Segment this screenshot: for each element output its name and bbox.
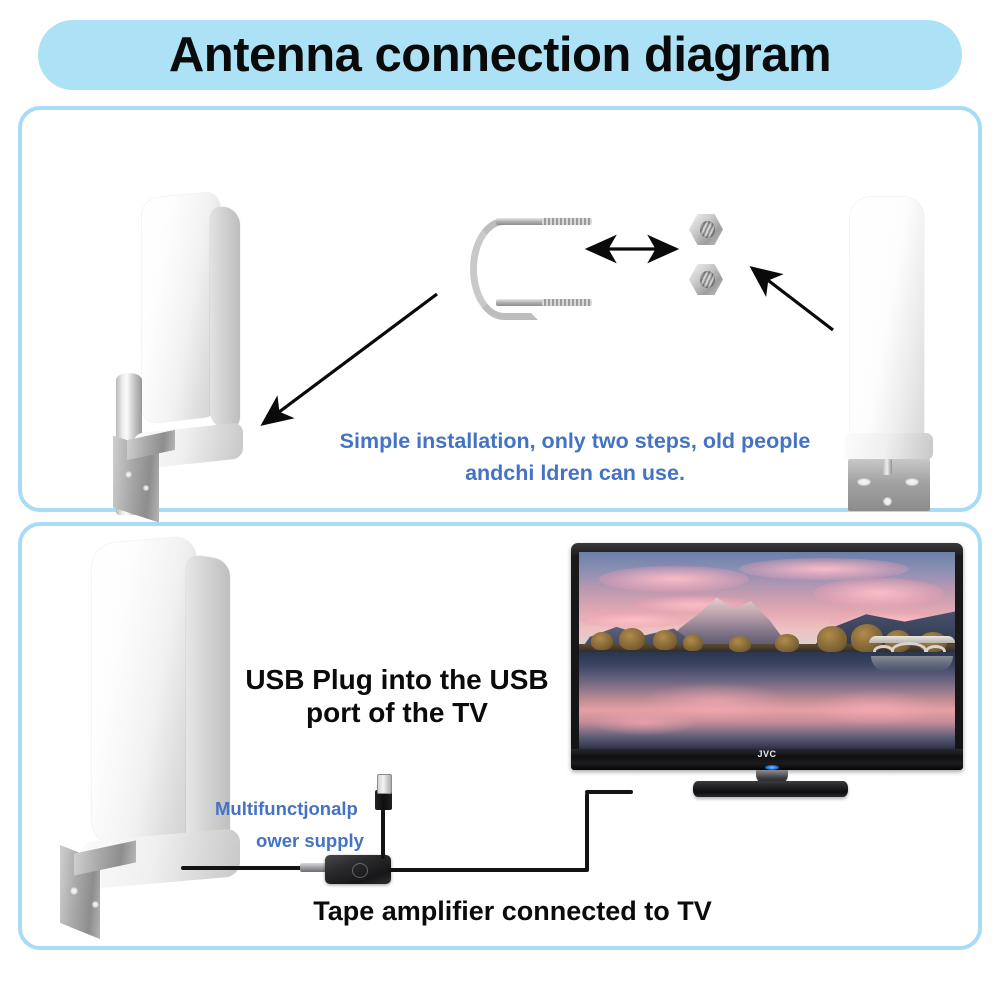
bracket-hole <box>70 887 78 895</box>
coax-plug <box>300 863 326 872</box>
picture-tree <box>653 630 677 650</box>
picture-tree <box>729 636 751 652</box>
antenna-base <box>845 433 933 460</box>
u-bolt-thread-bottom <box>542 299 592 306</box>
u-bolt-thread-top <box>542 218 592 225</box>
tv-cable-vertical <box>585 793 589 872</box>
plate-stud <box>883 459 892 475</box>
picture-tree <box>683 634 703 651</box>
picture-tree <box>619 628 645 650</box>
tv-brand-logo: JVC <box>571 749 963 759</box>
installation-caption: Simple installation, only two steps, old… <box>305 425 845 489</box>
pole-top-cap <box>116 373 142 387</box>
bracket-hole <box>143 485 149 491</box>
antenna-body <box>850 197 924 440</box>
amplifier-to-tv-cable <box>388 868 588 872</box>
u-bolt <box>470 218 600 308</box>
tv-stand-base <box>693 781 848 797</box>
picture-tree <box>817 626 847 652</box>
picture-tree <box>775 634 799 652</box>
amplifier-logo <box>352 863 368 878</box>
plate-hole-right <box>905 478 919 486</box>
plate-hole-left <box>857 478 871 486</box>
antenna-body <box>92 535 196 844</box>
picture-tree <box>591 632 613 650</box>
bracket-mounted-antenna <box>48 535 268 935</box>
tv-picture <box>579 552 955 749</box>
picture-reflection <box>589 710 699 736</box>
power-supply-caption: Multifunctjonalp ower supply <box>215 793 405 857</box>
picture-cloud <box>739 558 909 580</box>
wall-plate-antenna <box>845 197 955 507</box>
bracket-hole <box>92 901 99 908</box>
page-title-banner: Antenna connection diagram <box>38 20 962 90</box>
diagram-root: Antenna connection diagram <box>0 0 1000 1000</box>
hex-nut-thread-hole <box>700 221 715 238</box>
picture-cloud <box>814 578 944 608</box>
pole-mounted-antenna <box>100 185 290 515</box>
antenna-body-side <box>210 204 240 431</box>
picture-bridge-reflection <box>871 656 953 672</box>
page-title: Antenna connection diagram <box>169 27 831 83</box>
television: JVC <box>571 543 963 793</box>
antenna-body <box>142 191 220 424</box>
picture-reflection <box>809 690 939 726</box>
antenna-lead-cable <box>181 866 305 870</box>
picture-cloud <box>579 612 689 628</box>
bracket-hole <box>125 471 132 478</box>
usb-instruction-caption: USB Plug into the USB port of the TV <box>232 663 562 729</box>
hex-nut-thread-hole <box>700 271 715 288</box>
bottom-caption: Tape amplifier connected to TV <box>240 896 785 927</box>
power-supply-caption-line1: Multifunctjonalp <box>215 793 405 825</box>
usb-connector <box>377 774 392 794</box>
picture-cloud <box>599 566 749 592</box>
power-supply-caption-line2: ower supply <box>215 825 405 857</box>
plate-hole-bottom <box>883 497 892 506</box>
tv-screen <box>579 552 955 749</box>
